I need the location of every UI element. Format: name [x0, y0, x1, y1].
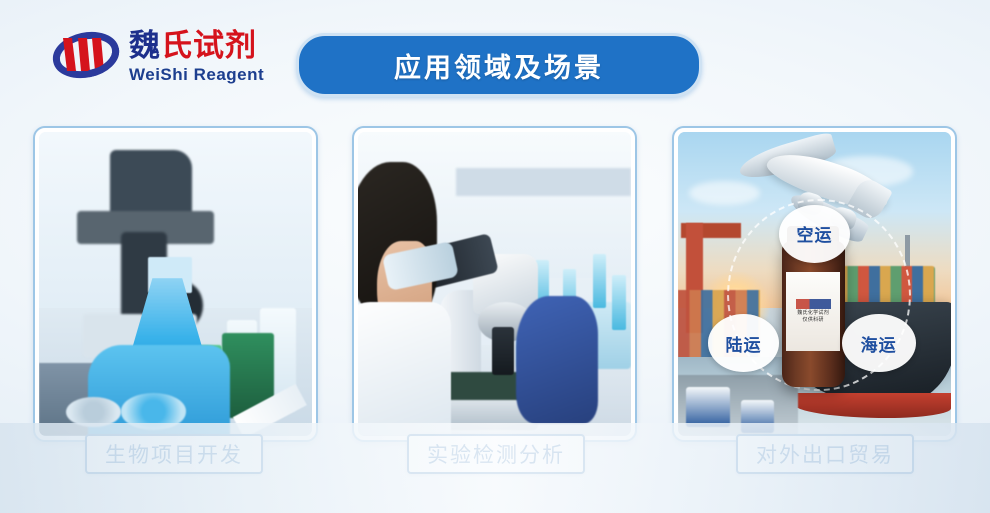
section-title-banner: 应用领域及场景	[296, 33, 702, 97]
card-experimental-testing-analysis[interactable]	[352, 126, 637, 442]
badge-land-freight: 陆运	[708, 314, 779, 372]
card-foreign-export-trade[interactable]: 魏氏化学试剂 仅供科研 空运 陆运 海运	[672, 126, 957, 442]
card-row: 魏氏化学试剂 仅供科研 空运 陆运 海运	[0, 126, 990, 466]
card-bio-project-development[interactable]	[33, 126, 318, 442]
weishi-w-logo-icon	[45, 24, 123, 86]
header: 魏氏试剂 WeiShi Reagent 应用领域及场景	[0, 0, 990, 118]
caption-experimental-testing-analysis: 实验检测分析	[407, 434, 585, 474]
reagent-bottle-label: 魏氏化学试剂 仅供科研	[786, 272, 841, 351]
brand-wordmark: 魏氏试剂 WeiShi Reagent	[129, 28, 264, 83]
photo-researcher-microscope	[358, 132, 631, 436]
caption-bio-project-development: 生物项目开发	[85, 434, 263, 474]
caption-foreign-export-trade: 对外出口贸易	[736, 434, 914, 474]
bottle-label-line2: 仅供科研	[803, 317, 824, 323]
badge-sea-freight: 海运	[842, 314, 916, 372]
brand-name-en: WeiShi Reagent	[129, 66, 264, 83]
brand-name-cn-suffix: 氏试剂	[161, 28, 257, 63]
page-title: 应用领域及场景	[394, 46, 604, 85]
photo-microscope-flask	[39, 132, 312, 436]
bottle-label-line1: 魏氏化学试剂	[797, 310, 829, 316]
brand-logo[interactable]: 魏氏试剂 WeiShi Reagent	[45, 24, 264, 86]
brand-name-cn: 魏氏试剂	[129, 30, 264, 61]
brand-name-cn-prefix: 魏	[129, 28, 161, 63]
bottle-brand-logo-icon	[796, 299, 831, 309]
badge-air-freight: 空运	[779, 205, 850, 263]
photo-logistics-air-land-sea: 魏氏化学试剂 仅供科研 空运 陆运 海运	[678, 132, 951, 436]
poster-stage: 魏氏试剂 WeiShi Reagent 应用领域及场景	[0, 0, 990, 513]
